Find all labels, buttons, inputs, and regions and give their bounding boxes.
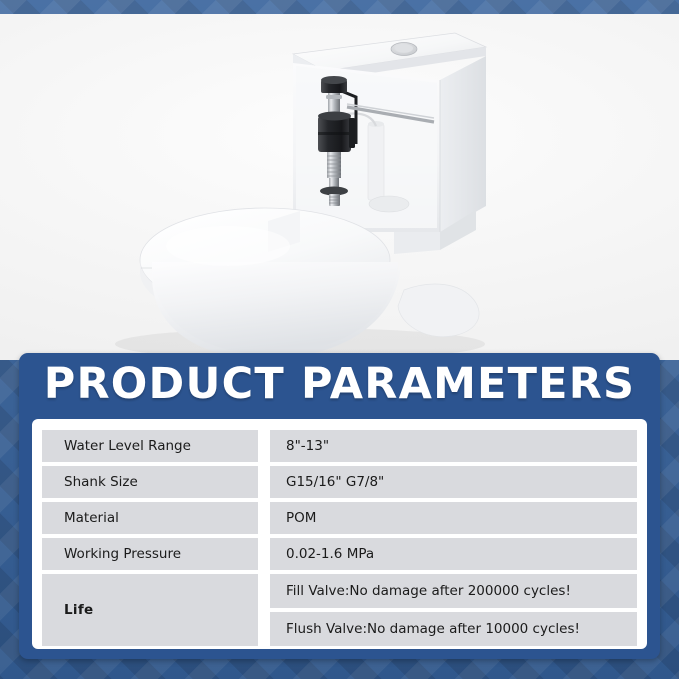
- column-gap: [258, 502, 270, 534]
- param-value: POM: [270, 502, 637, 534]
- parameters-table: Water Level Range 8"-13" Shank Size G15/…: [42, 426, 637, 650]
- column-gap: [258, 430, 270, 462]
- tank-bowl-connector: [394, 232, 440, 254]
- param-key-life: Life: [42, 574, 258, 646]
- flush-valve-seat: [369, 196, 409, 212]
- valve-side-clip: [349, 118, 355, 148]
- table-row-life: Life Fill Valve:No damage after 200000 c…: [42, 574, 637, 646]
- table-row: Material POM: [42, 502, 637, 534]
- overflow-tube: [368, 124, 384, 200]
- param-value: 8"-13": [270, 430, 637, 462]
- table-row: Working Pressure 0.02-1.6 MPa: [42, 538, 637, 570]
- column-gap: [258, 466, 270, 498]
- table-row: Water Level Range 8"-13": [42, 430, 637, 462]
- life-value-flush-valve: Flush Valve:No damage after 10000 cycles…: [270, 612, 637, 646]
- product-parameters-card: PRODUCT PARAMETERS Water Level Range 8"-…: [19, 353, 660, 659]
- parameters-table-container: Water Level Range 8"-13" Shank Size G15/…: [32, 419, 647, 649]
- param-key: Material: [42, 502, 258, 534]
- life-value-fill-valve: Fill Valve:No damage after 200000 cycles…: [270, 574, 637, 608]
- param-value: G15/16" G7/8": [270, 466, 637, 498]
- toilet-illustration: [0, 14, 679, 360]
- product-hero-image: [0, 14, 679, 360]
- param-value-life: Fill Valve:No damage after 200000 cycles…: [270, 574, 637, 646]
- life-value-list: Fill Valve:No damage after 200000 cycles…: [270, 574, 637, 646]
- page-title: PRODUCT PARAMETERS: [19, 353, 660, 415]
- param-key: Shank Size: [42, 466, 258, 498]
- column-gap: [258, 538, 270, 570]
- column-gap: [258, 574, 270, 646]
- param-key: Working Pressure: [42, 538, 258, 570]
- tank-side-face: [440, 56, 486, 232]
- parameters-table-body: Water Level Range 8"-13" Shank Size G15/…: [42, 430, 637, 646]
- table-row: Shank Size G15/16" G7/8": [42, 466, 637, 498]
- param-key: Water Level Range: [42, 430, 258, 462]
- bowl-trapway: [398, 284, 479, 337]
- param-value: 0.02-1.6 MPa: [270, 538, 637, 570]
